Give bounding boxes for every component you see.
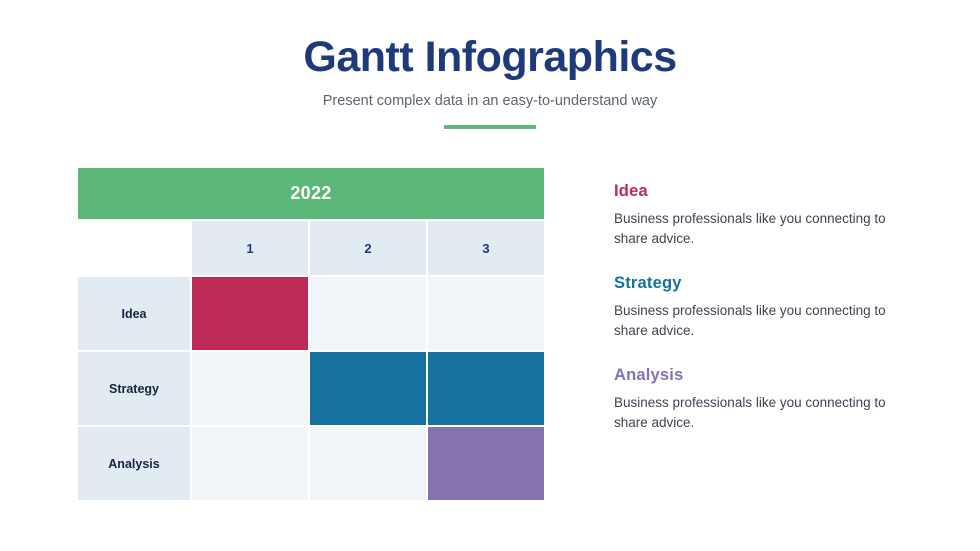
page-subtitle: Present complex data in an easy-to-under… (0, 93, 980, 109)
legend-title-strategy: Strategy (614, 274, 924, 293)
gantt-bar-strategy-2[interactable] (310, 352, 426, 425)
gantt-cell-analysis-2 (310, 427, 426, 500)
gantt-column-header-2: 2 (310, 221, 426, 275)
gantt-year-header: 2022 (78, 168, 544, 219)
gantt-column-header-1: 1 (192, 221, 308, 275)
legend-panel: Idea Business professionals like you con… (614, 182, 924, 432)
legend-text-analysis: Business professionals like you connecti… (614, 393, 906, 432)
legend-item-strategy: Strategy Business professionals like you… (614, 274, 924, 340)
legend-item-idea: Idea Business professionals like you con… (614, 182, 924, 248)
gantt-bar-idea-1[interactable] (192, 277, 308, 350)
slide-header: Gantt Infographics Present complex data … (0, 0, 980, 129)
legend-text-strategy: Business professionals like you connecti… (614, 301, 906, 340)
legend-text-idea: Business professionals like you connecti… (614, 209, 906, 248)
accent-divider (444, 125, 536, 129)
gantt-cell-idea-2 (310, 277, 426, 350)
slide: Gantt Infographics Present complex data … (0, 0, 980, 551)
legend-title-analysis: Analysis (614, 366, 924, 385)
gantt-corner-cell (78, 221, 190, 275)
gantt-body: Idea Strategy Analysis (78, 277, 544, 500)
gantt-chart: 2022 1 2 3 Idea Strategy Analysis (78, 168, 544, 500)
gantt-cell-idea-3 (428, 277, 544, 350)
legend-title-idea: Idea (614, 182, 924, 201)
page-title: Gantt Infographics (0, 34, 980, 81)
gantt-column-header-3: 3 (428, 221, 544, 275)
gantt-row-label-strategy: Strategy (78, 352, 190, 425)
gantt-row-label-idea: Idea (78, 277, 190, 350)
legend-item-analysis: Analysis Business professionals like you… (614, 366, 924, 432)
gantt-cell-analysis-1 (192, 427, 308, 500)
gantt-bar-analysis-3[interactable] (428, 427, 544, 500)
gantt-row-label-analysis: Analysis (78, 427, 190, 500)
gantt-cell-strategy-1 (192, 352, 308, 425)
gantt-column-header-row: 1 2 3 (78, 221, 544, 275)
gantt-bar-strategy-3[interactable] (428, 352, 544, 425)
